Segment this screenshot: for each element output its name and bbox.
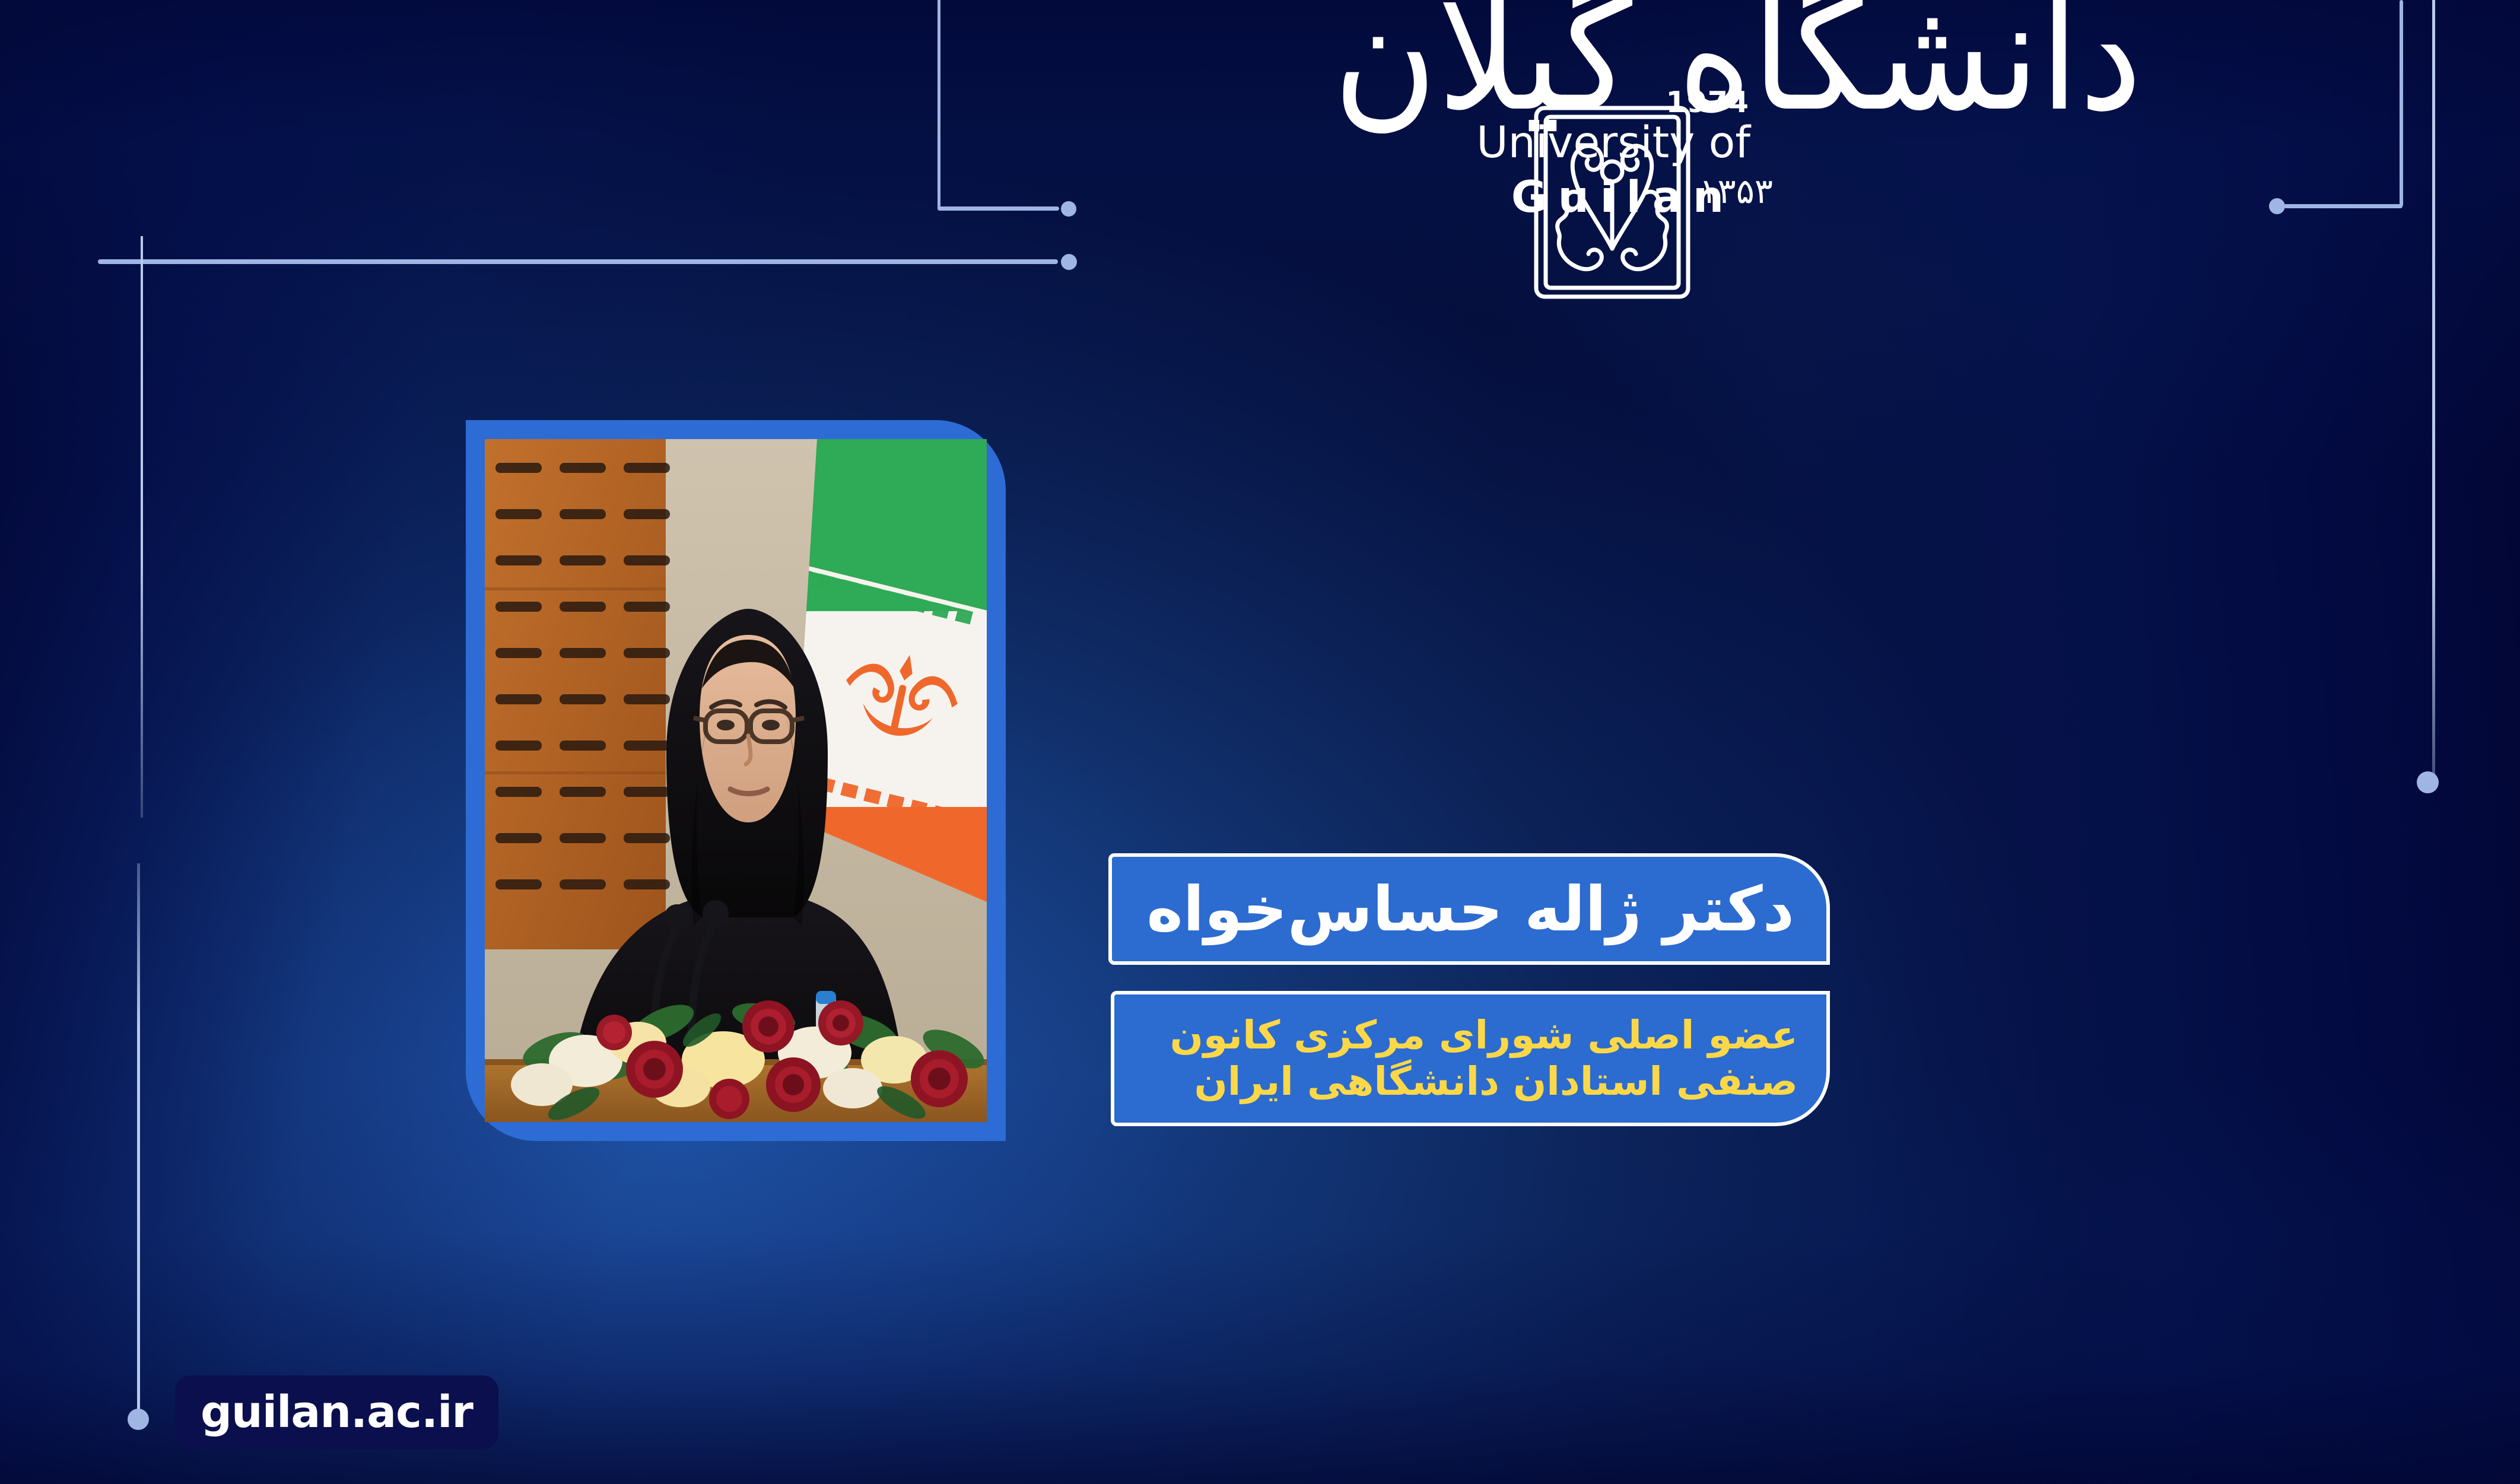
long-horizontal-line-end-dot <box>1061 254 1077 270</box>
bottom-left-line-end-dot <box>128 1409 149 1430</box>
portrait-photo <box>485 439 987 1122</box>
right-edge-vertical-line <box>2432 0 2435 784</box>
short-vertical-crossing-line <box>141 236 143 818</box>
speaker-role-text: عضو اصلی شورای مرکزی کانون صنفی استادان … <box>1170 1012 1826 1105</box>
bottom-left-vertical-line <box>137 863 140 1415</box>
logo-founding-year-fa: ۱۳۵۳ <box>1699 171 1773 211</box>
speaker-role-line-1: عضو اصلی شورای مرکزی کانون <box>1170 1012 1798 1059</box>
speaker-name-text: دکتر ژاله حساس‌خواه <box>1146 873 1826 945</box>
website-url-badge[interactable]: guilan.ac.ir <box>175 1375 498 1449</box>
speaker-role-card: عضو اصلی شورای مرکزی کانون صنفی استادان … <box>1111 991 1830 1126</box>
right-edge-line-end-dot <box>2417 771 2439 793</box>
logo-university-name-fa: دانشگاه گیلان <box>1333 0 2142 133</box>
speaker-role-line-2: صنفی استادان دانشگاهی ایران <box>1170 1059 1798 1105</box>
top-left-vertical-line <box>938 0 940 209</box>
top-right-horizontal-line-with-dot <box>2284 204 2403 208</box>
website-url-text: guilan.ac.ir <box>201 1387 473 1438</box>
university-logo-persian: دانشگاه گیلان ۱۳۵۳ <box>1715 18 2130 214</box>
portrait-photo-illustration <box>485 439 987 1122</box>
portrait-photo-frame <box>466 420 1006 1141</box>
top-right-vertical-line <box>2400 0 2403 206</box>
poster-canvas: 1974 University of Guilan دانشگاه گیلان … <box>0 0 2520 1484</box>
long-horizontal-line <box>98 259 1058 264</box>
top-left-horizontal-line-with-dot <box>938 206 1059 211</box>
speaker-name-card: دکتر ژاله حساس‌خواه <box>1108 853 1830 965</box>
top-left-line-end-dot <box>1061 201 1076 217</box>
top-right-line-end-dot <box>2269 198 2285 214</box>
